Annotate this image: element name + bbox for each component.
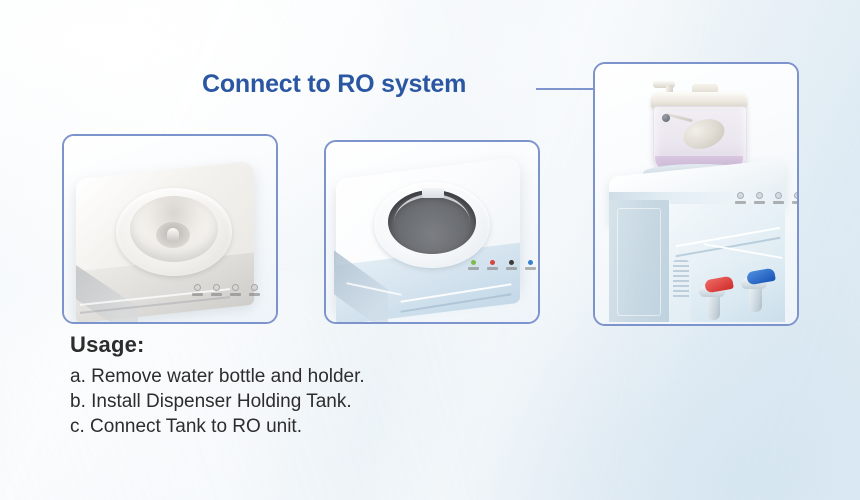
led-label xyxy=(754,201,765,204)
indicator-led-row-2 xyxy=(468,260,536,270)
led-label xyxy=(192,293,203,296)
usage-heading: Usage: xyxy=(70,332,540,358)
status-led-icon xyxy=(490,260,495,265)
usage-section: Usage: a. Remove water bottle and holder… xyxy=(70,332,540,439)
led-label xyxy=(792,201,797,204)
led-label xyxy=(249,293,260,296)
led-cell xyxy=(506,260,517,270)
led-cell xyxy=(735,192,746,204)
product-photo-panel-1[interactable] xyxy=(62,134,278,324)
dispenser-with-holder-photo xyxy=(64,136,276,322)
dispenser-vent-grille xyxy=(673,260,689,300)
status-led-icon xyxy=(232,284,239,291)
led-cell xyxy=(487,260,498,270)
led-cell xyxy=(468,260,479,270)
led-label xyxy=(773,201,784,204)
led-cell xyxy=(792,192,797,204)
led-cell xyxy=(754,192,765,204)
led-label xyxy=(735,201,746,204)
led-cell xyxy=(211,284,222,296)
led-label xyxy=(525,267,536,270)
led-label xyxy=(230,293,241,296)
status-led-icon xyxy=(251,284,258,291)
usage-step-b: b. Install Dispenser Holding Tank. xyxy=(70,389,540,414)
led-cell xyxy=(230,284,241,296)
dispenser-with-ro-tank-photo xyxy=(595,64,797,324)
open-port-notch xyxy=(422,188,444,198)
status-led-icon xyxy=(471,260,476,265)
page-title: Connect to RO system xyxy=(202,70,466,99)
bottle-holder-probe-pin xyxy=(167,228,179,242)
led-cell xyxy=(773,192,784,204)
led-cell xyxy=(249,284,260,296)
open-port-inner-lip xyxy=(394,194,470,251)
indicator-led-row-3 xyxy=(735,192,797,204)
led-label xyxy=(506,267,517,270)
led-label xyxy=(211,293,222,296)
page-canvas: Connect to RO system xyxy=(0,0,860,500)
product-photo-panel-2[interactable] xyxy=(324,140,540,324)
dispenser-side-panel xyxy=(609,200,670,322)
status-led-icon xyxy=(794,192,797,199)
led-cell xyxy=(525,260,536,270)
status-led-icon xyxy=(213,284,220,291)
status-led-icon xyxy=(528,260,533,265)
status-led-icon xyxy=(194,284,201,291)
led-label xyxy=(487,267,498,270)
usage-step-c: c. Connect Tank to RO unit. xyxy=(70,414,540,439)
float-valve-pivot xyxy=(662,114,670,122)
status-led-icon xyxy=(756,192,763,199)
led-cell xyxy=(192,284,203,296)
dispenser-holder-removed-photo xyxy=(326,142,538,322)
status-led-icon xyxy=(509,260,514,265)
status-led-icon xyxy=(775,192,782,199)
usage-step-a: a. Remove water bottle and holder. xyxy=(70,364,540,389)
status-led-icon xyxy=(737,192,744,199)
product-photo-panel-3[interactable] xyxy=(593,62,799,326)
led-label xyxy=(468,267,479,270)
indicator-led-row-1 xyxy=(192,284,260,296)
